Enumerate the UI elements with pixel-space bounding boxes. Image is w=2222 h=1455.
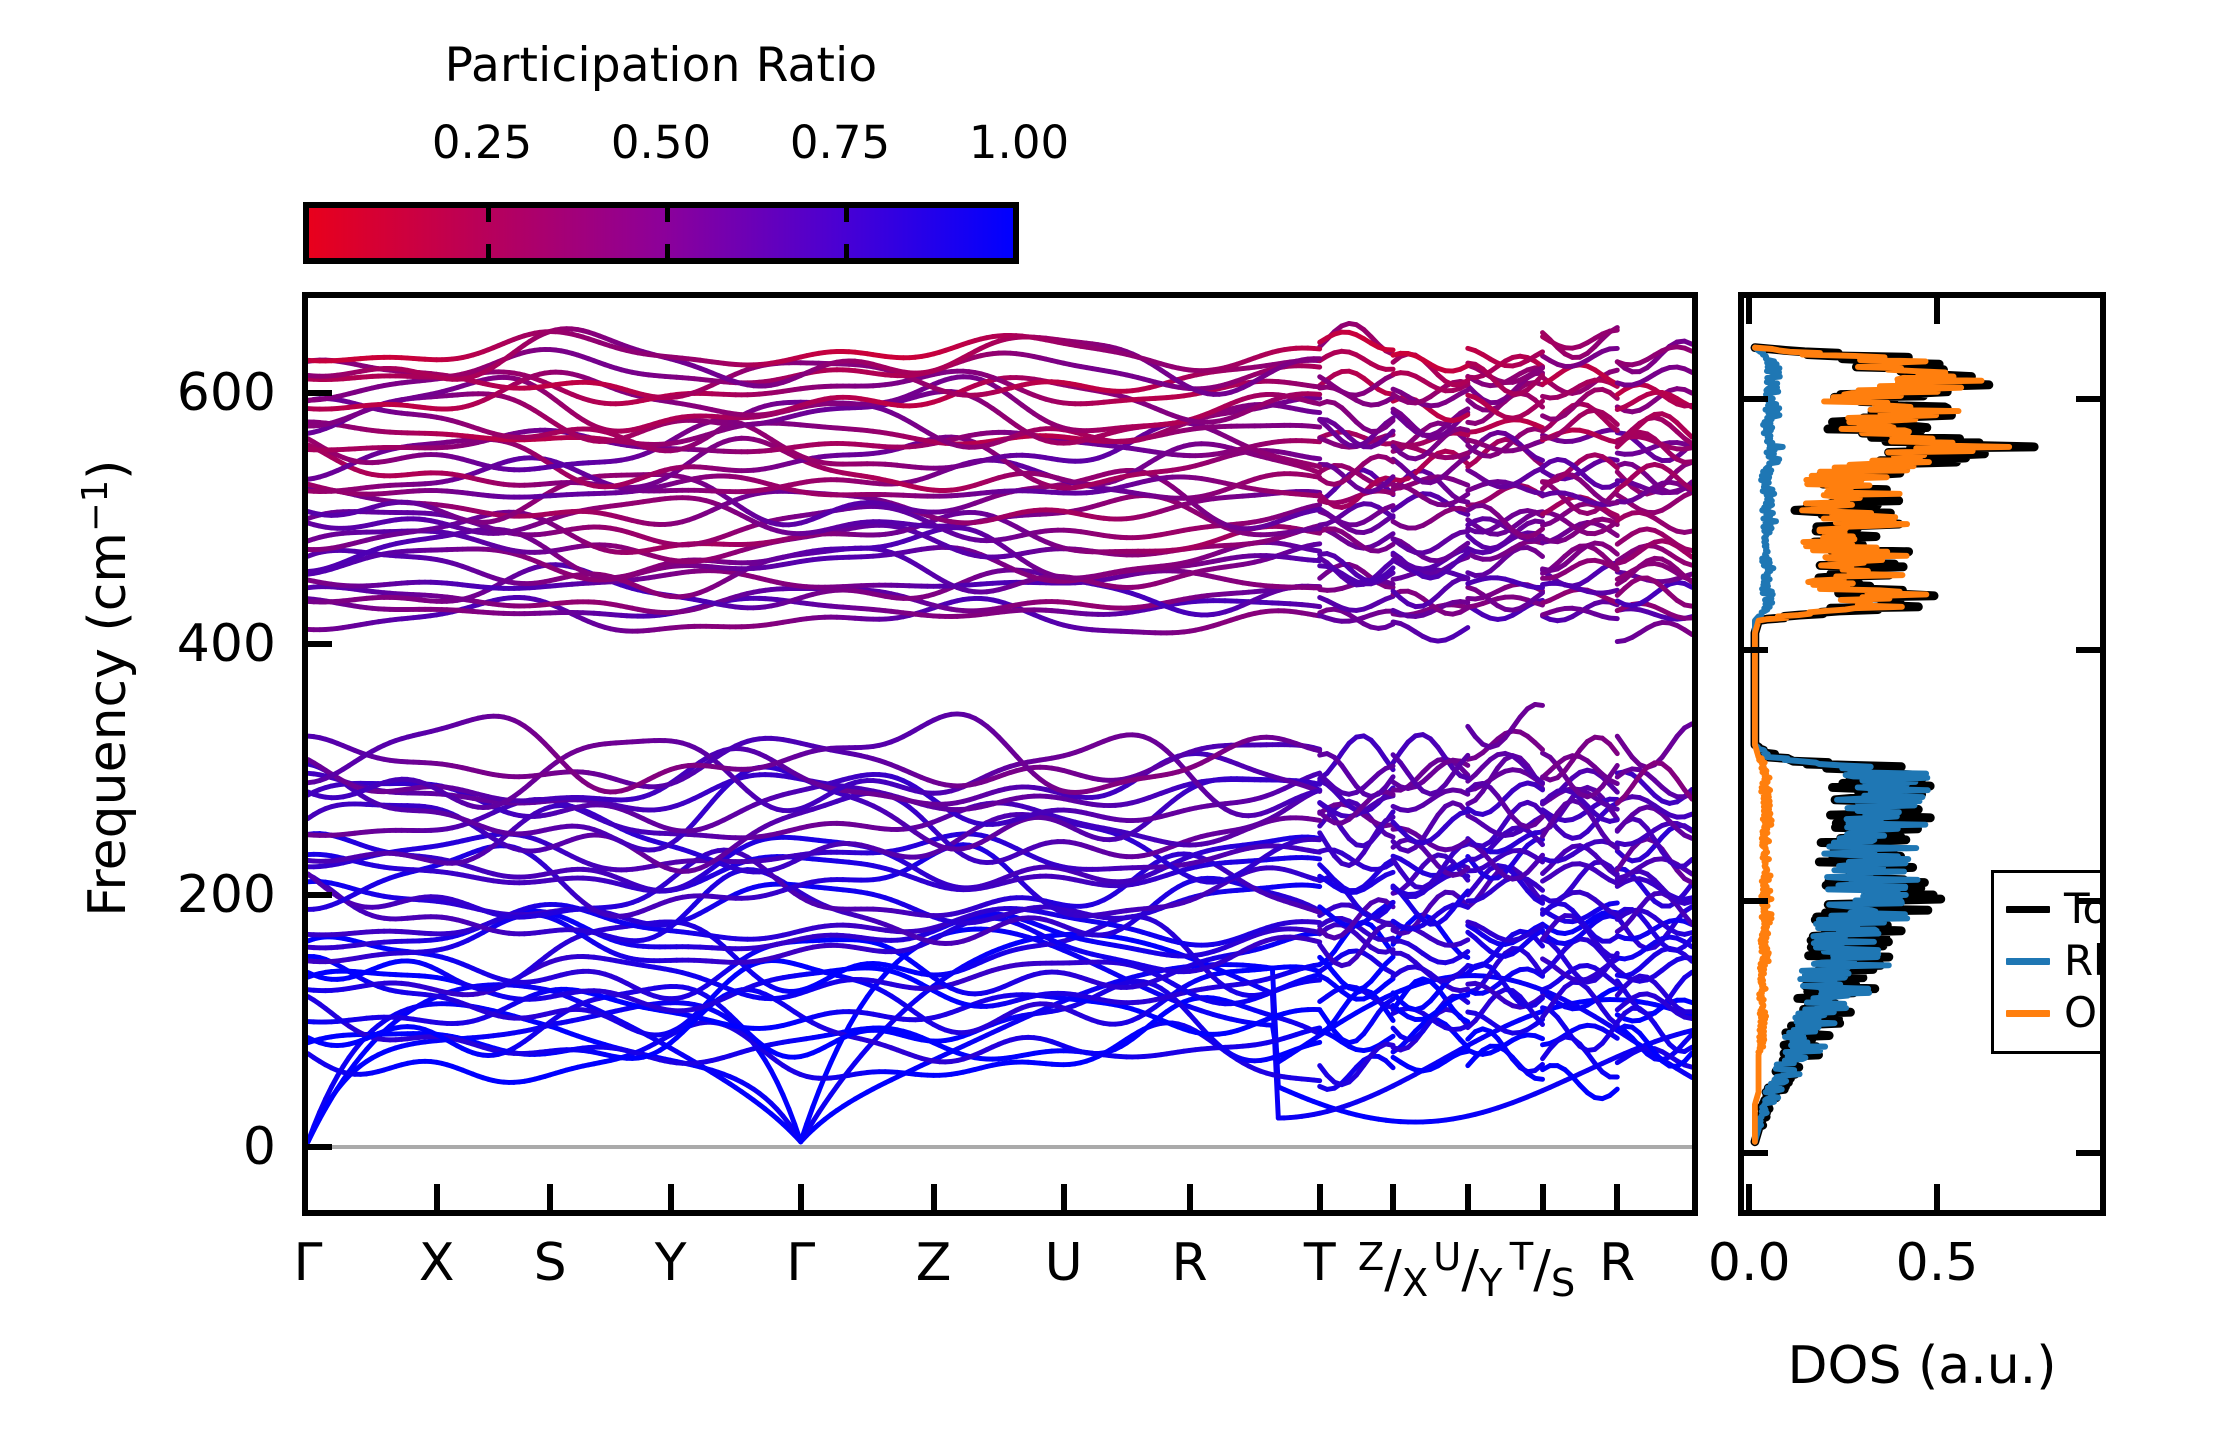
band-segment [1314, 1042, 1320, 1043]
band-segment [1460, 989, 1467, 990]
band-segment [1685, 1065, 1692, 1067]
band-segment [1460, 891, 1467, 900]
colorbar-tick-labels: 0.250.500.751.00 [303, 120, 1019, 170]
band-segment [1685, 1034, 1692, 1042]
band-segment [1386, 924, 1393, 925]
band-segment [1314, 975, 1320, 976]
colorbar-title: Participation Ratio [303, 42, 1019, 89]
band-segment [1386, 1061, 1393, 1068]
colorbar-tick [486, 208, 491, 222]
band-segment [1685, 933, 1692, 935]
band-segment [1386, 957, 1393, 964]
band-segment [1314, 910, 1320, 912]
band-segment [1610, 911, 1617, 915]
band-segment [1685, 907, 1692, 912]
band-segment [1314, 886, 1320, 887]
band-segment [1610, 937, 1617, 942]
band-segment [1685, 1000, 1692, 1002]
band-segment [1314, 922, 1320, 923]
band-segment [1386, 1044, 1393, 1045]
band-segment [1610, 1089, 1617, 1095]
y-axis-tick-label: 600 [177, 367, 276, 419]
colorbar-tick [486, 244, 491, 258]
y-axis-tick-label: 0 [243, 1121, 276, 1173]
y-axis-tick-label: 400 [177, 618, 276, 670]
band-segment [1685, 972, 1692, 977]
band-segment [1610, 988, 1617, 991]
colorbar-tick [844, 244, 849, 258]
band-segment [1535, 1078, 1542, 1079]
band-segment [1535, 1036, 1542, 1039]
band-segment [1685, 1017, 1692, 1018]
band-segment [1685, 898, 1692, 900]
colorbar-tick [844, 208, 849, 222]
colorbar-tick-label: 0.75 [790, 120, 890, 165]
band-segment [1685, 1053, 1692, 1061]
band-segment [813, 1091, 819, 1107]
band-segment [1386, 999, 1393, 1004]
band-segment [1685, 884, 1692, 894]
band-segment [1685, 1073, 1692, 1077]
band-segment [1314, 858, 1320, 859]
band-segment [1460, 995, 1467, 996]
colorbar-gradient [303, 202, 1019, 264]
band-segment [1610, 903, 1617, 904]
band-structure-curves [308, 298, 1692, 1210]
band-segment [1386, 969, 1393, 973]
band-segment [1460, 940, 1467, 944]
band-segment [1386, 872, 1393, 875]
band-structure-panel [302, 292, 1698, 1216]
colorbar-tick-label: 0.50 [611, 120, 711, 165]
colorbar-tick-label: 0.25 [432, 120, 532, 165]
colorbar-tick [665, 208, 670, 222]
band-segment [1314, 1080, 1320, 1081]
colorbar-tick-label: 1.00 [969, 120, 1069, 165]
band-segment [1610, 956, 1617, 957]
band-segment [1535, 884, 1542, 890]
y-axis-tick-label: 200 [177, 869, 276, 921]
band-segment [1460, 905, 1467, 908]
figure-root: Participation Ratio 0.250.500.751.00 Fre… [0, 0, 2222, 1455]
band-segment [1386, 979, 1393, 984]
band-segment [1314, 941, 1320, 942]
band-segment [1386, 1036, 1393, 1041]
band-segment [1460, 1026, 1467, 1029]
band-segment [1685, 901, 1692, 903]
colorbar-tick [665, 244, 670, 258]
